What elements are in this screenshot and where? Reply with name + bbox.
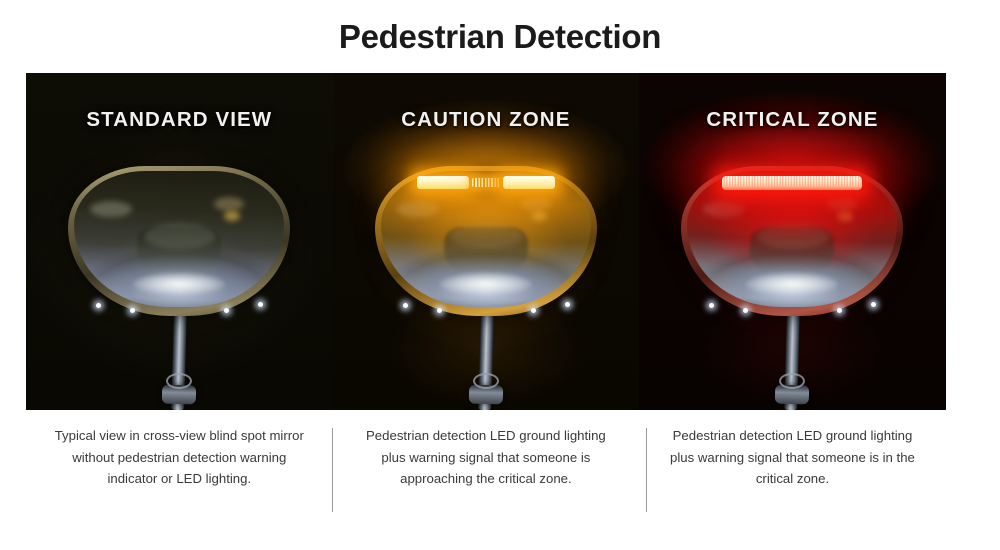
rim-led-dot	[709, 303, 714, 308]
rim-led-row	[375, 294, 597, 314]
ground-light-pool	[440, 273, 532, 295]
led-segment-right	[503, 176, 555, 189]
led-segment-full	[722, 176, 862, 190]
ground-light-pool	[746, 273, 838, 295]
caption-row: Typical view in cross-view blind spot mi…	[26, 425, 946, 535]
rim-led-dot	[837, 308, 842, 313]
rim-led-dot	[258, 302, 263, 307]
panel-label-critical-zone: CRITICAL ZONE	[639, 108, 946, 132]
panel-caution-zone: CAUTION ZONE	[333, 73, 640, 410]
led-segment-center-dotted	[472, 178, 500, 187]
rim-led-dot	[531, 308, 536, 313]
warning-led-bar-amber	[415, 174, 557, 191]
rim-led-dot	[871, 302, 876, 307]
page-title: Pedestrian Detection	[0, 18, 1000, 56]
panel-critical-zone: CRITICAL ZONE	[639, 73, 946, 410]
pole-clamp-ring	[166, 373, 192, 389]
rim-led-dot	[437, 308, 442, 313]
rim-led-dot	[96, 303, 101, 308]
led-segment-left	[417, 176, 469, 189]
rim-led-dot	[743, 308, 748, 313]
caption-critical-zone: Pedestrian detection LED ground lighting…	[639, 425, 946, 535]
caption-caution-zone: Pedestrian detection LED ground lighting…	[333, 425, 640, 535]
rim-led-dot	[224, 308, 229, 313]
mirror-assembly-caution	[375, 166, 597, 316]
reflection-streetlight	[224, 211, 240, 221]
panel-label-standard-view: STANDARD VIEW	[26, 108, 333, 132]
panel-standard-view: STANDARD VIEW	[26, 73, 333, 410]
comparison-photo-band: STANDARD VIEW CAUTION ZONE	[26, 73, 946, 410]
pole-clamp-ring	[473, 373, 499, 389]
rim-led-dot	[565, 302, 570, 307]
reflection-highlight	[90, 201, 132, 217]
mirror-assembly-critical	[681, 166, 903, 316]
panel-label-caution-zone: CAUTION ZONE	[333, 108, 640, 132]
ground-light-pool	[133, 273, 225, 295]
mirror-assembly-standard	[68, 166, 290, 316]
rim-led-dot	[130, 308, 135, 313]
reflection-highlight	[214, 197, 244, 211]
rim-led-dot	[403, 303, 408, 308]
reflection-highlight	[144, 223, 216, 249]
warning-led-bar-red	[721, 174, 863, 191]
pole-clamp-ring	[779, 373, 805, 389]
caption-standard-view: Typical view in cross-view blind spot mi…	[26, 425, 333, 535]
rim-led-row	[681, 294, 903, 314]
rim-led-row	[68, 294, 290, 314]
